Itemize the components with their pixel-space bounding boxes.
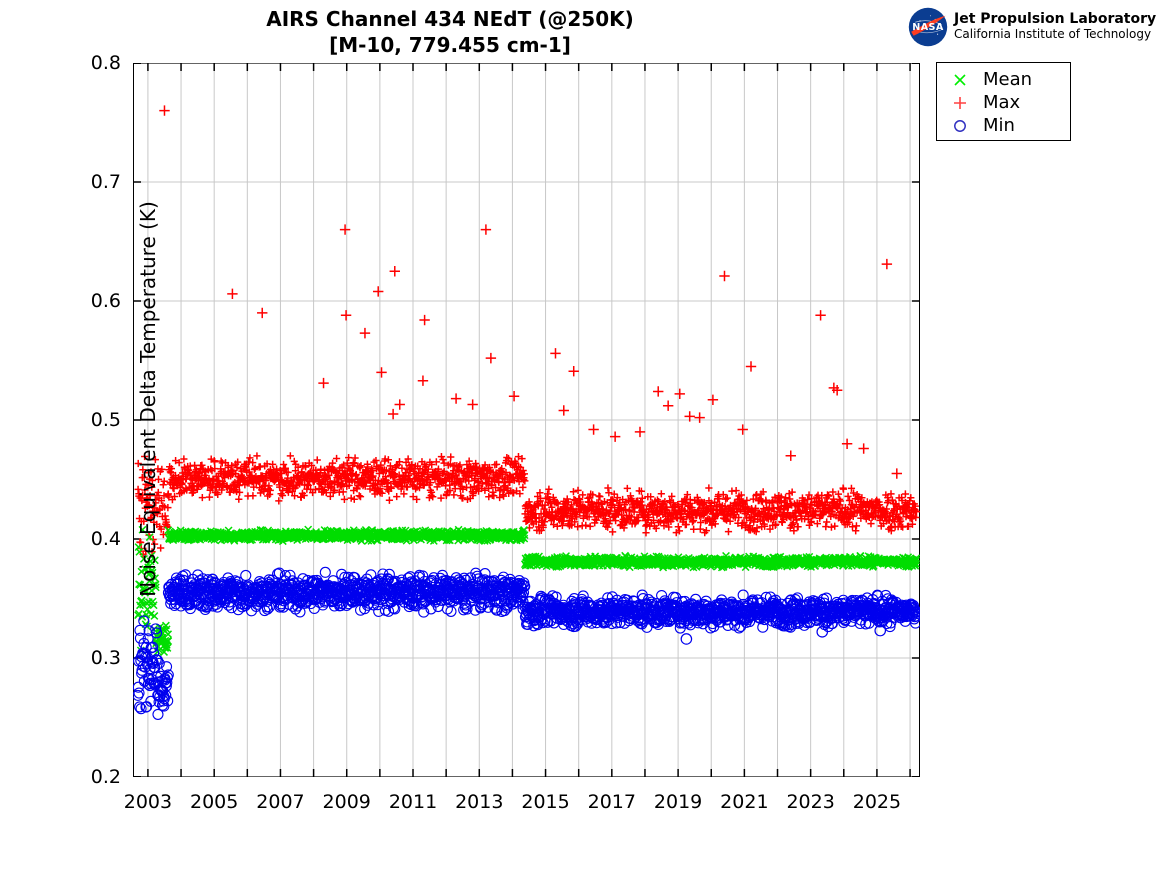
x-tick-label: 2019 xyxy=(654,791,702,813)
y-tick-label: 0.3 xyxy=(91,647,121,669)
nasa-jpl-logo: NASA Jet Propulsion Laboratory Californi… xyxy=(908,6,1160,48)
jpl-name: Jet Propulsion Laboratory xyxy=(954,12,1156,28)
x-tick-label: 2013 xyxy=(455,791,503,813)
chart-legend[interactable]: Mean Max Min xyxy=(936,62,1071,141)
grid-lines xyxy=(133,63,920,777)
y-tick-label: 0.8 xyxy=(91,52,121,74)
x-tick-label: 2015 xyxy=(521,791,569,813)
chart-title-line2: [M-10, 779.455 cm-1] xyxy=(0,32,900,58)
chart-title-line1: AIRS Channel 434 NEdT (@250K) xyxy=(0,6,900,32)
x-tick-label: 2017 xyxy=(588,791,636,813)
legend-label-max: Max xyxy=(983,92,1020,113)
y-axis-label: Noise Equivalent Delta Temperature (K) xyxy=(136,49,160,749)
y-tick-label: 0.4 xyxy=(91,528,121,550)
y-tick-label: 0.5 xyxy=(91,409,121,431)
x-tick-label: 2023 xyxy=(786,791,834,813)
nasa-meatball-icon: NASA xyxy=(908,7,948,47)
legend-item-max[interactable]: Max xyxy=(937,91,1070,114)
plot-area: Noise Equivalent Delta Temperature (K) 0… xyxy=(133,63,920,777)
x-tick-label: 2007 xyxy=(256,791,304,813)
legend-marker-min-circle-icon xyxy=(937,117,983,135)
series-min xyxy=(133,567,920,719)
legend-marker-mean-x-icon xyxy=(937,71,983,89)
jpl-institution: California Institute of Technology xyxy=(954,28,1156,41)
x-tick-label: 2005 xyxy=(190,791,238,813)
legend-item-min[interactable]: Min xyxy=(937,114,1070,137)
legend-item-mean[interactable]: Mean xyxy=(937,68,1070,91)
x-tick-label: 2025 xyxy=(853,791,901,813)
x-tick-label: 2011 xyxy=(389,791,437,813)
legend-label-mean: Mean xyxy=(983,69,1032,90)
x-tick-label: 2021 xyxy=(720,791,768,813)
y-tick-label: 0.6 xyxy=(91,290,121,312)
legend-label-min: Min xyxy=(983,115,1015,136)
x-tick-label: 2009 xyxy=(323,791,371,813)
chart-title: AIRS Channel 434 NEdT (@250K) [M-10, 779… xyxy=(0,6,900,58)
legend-marker-max-plus-icon xyxy=(937,94,983,112)
y-tick-label: 0.7 xyxy=(91,171,121,193)
scatter-plot-canvas xyxy=(133,63,920,777)
series-max xyxy=(134,105,920,557)
x-tick-label: 2003 xyxy=(124,791,172,813)
figure-canvas: AIRS Channel 434 NEdT (@250K) [M-10, 779… xyxy=(0,0,1167,875)
svg-text:NASA: NASA xyxy=(912,22,944,33)
jpl-wordmark: Jet Propulsion Laboratory California Ins… xyxy=(954,12,1156,41)
y-tick-label: 0.2 xyxy=(91,766,121,788)
